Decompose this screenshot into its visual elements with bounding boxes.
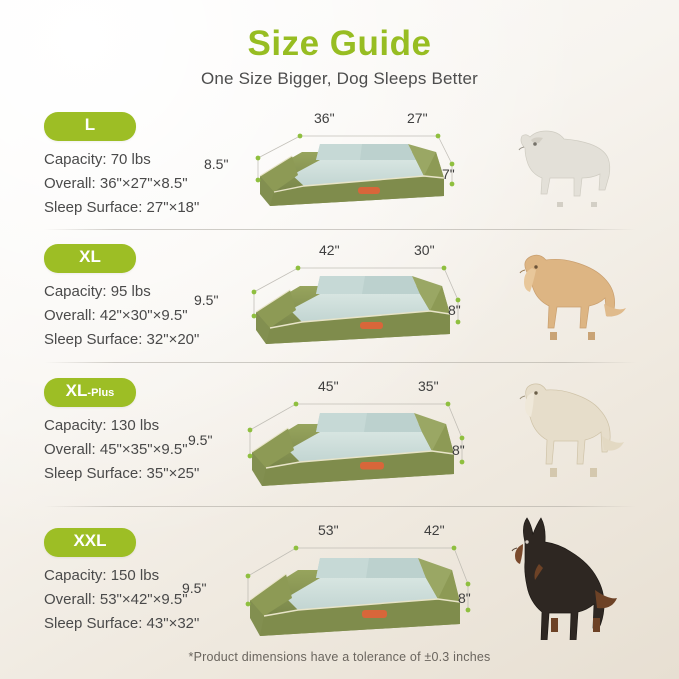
logo-tag (360, 462, 384, 470)
bed-drawing (226, 536, 478, 648)
bed-drawing (230, 390, 472, 498)
dim-depth: 27" (407, 110, 428, 126)
dim-height-left: 8.5" (204, 156, 228, 172)
logo-tag (362, 610, 387, 618)
row-separator (44, 506, 636, 507)
dim-depth: 42" (424, 522, 445, 538)
dim-depth: 30" (414, 242, 435, 258)
size-badge-label: XXL (73, 531, 106, 550)
dim-height-right: 7" (442, 166, 455, 182)
dim-width: 36" (314, 110, 335, 126)
size-badge-suffix: -Plus (87, 387, 114, 399)
dim-height-right: 8" (448, 302, 461, 318)
dog-image (492, 246, 642, 346)
bed-illustration: 45" 35" 9.5" 8" (230, 390, 472, 498)
dim-height-right: 8" (452, 442, 465, 458)
footer-note: *Product dimensions have a tolerance of … (0, 650, 679, 664)
page-subtitle: One Size Bigger, Dog Sleeps Better (0, 66, 679, 92)
row-separator (44, 229, 636, 230)
size-badge-label: L (85, 115, 95, 134)
page-title: Size Guide (0, 22, 679, 66)
size-badge: XXL (44, 528, 136, 557)
dim-height-left: 9.5" (194, 292, 218, 308)
size-badge-label: XL (66, 381, 88, 400)
dim-width: 45" (318, 378, 339, 394)
dim-width: 53" (318, 522, 339, 538)
bulldog-icon (495, 118, 635, 210)
overall-line: Overall: 45"×35"×9.5" (44, 438, 259, 462)
dim-height-right: 8" (458, 590, 471, 606)
dim-height-left: 9.5" (188, 432, 212, 448)
size-badge: XL-Plus (44, 378, 136, 407)
dim-height-left: 9.5" (182, 580, 206, 596)
spec-lines: Capacity: 95 lbs Overall: 42"×30"×9.5" S… (44, 280, 259, 352)
size-guide-infographic: Size Guide One Size Bigger, Dog Sleeps B… (0, 0, 679, 679)
dog-image (495, 118, 635, 210)
dog-image (495, 514, 645, 640)
bed-drawing (240, 118, 460, 218)
spec-block: XL Capacity: 95 lbs Overall: 42"×30"×9.5… (44, 244, 259, 352)
overall-line: Overall: 42"×30"×9.5" (44, 304, 259, 328)
bed-illustration: 53" 42" 9.5" 8" (226, 536, 478, 648)
dim-width: 42" (319, 242, 340, 258)
sleep-surface-line: Sleep Surface: 32"×20" (44, 328, 259, 352)
labrador-icon (492, 376, 644, 484)
bed-illustration: 42" 30" 9.5" 8" (234, 252, 468, 356)
dog-image (492, 376, 644, 484)
dim-depth: 35" (418, 378, 439, 394)
overall-line: Overall: 36"×27"×8.5" (44, 172, 259, 196)
size-badge: XL (44, 244, 136, 273)
logo-tag (358, 187, 380, 194)
doberman-icon (495, 514, 645, 640)
row-separator (44, 362, 636, 363)
size-badge-label: XL (79, 247, 101, 266)
header: Size Guide One Size Bigger, Dog Sleeps B… (0, 22, 679, 92)
sleep-surface-line: Sleep Surface: 35"×25" (44, 462, 259, 486)
golden-retriever-icon (492, 246, 642, 346)
spec-lines: Capacity: 130 lbs Overall: 45"×35"×9.5" … (44, 414, 259, 486)
logo-tag (360, 322, 383, 329)
capacity-line: Capacity: 130 lbs (44, 414, 259, 438)
bed-illustration: 36" 27" 8.5" 7" (240, 118, 460, 218)
size-badge: L (44, 112, 136, 141)
bed-drawing (234, 252, 468, 356)
capacity-line: Capacity: 95 lbs (44, 280, 259, 304)
spec-block: XL-Plus Capacity: 130 lbs Overall: 45"×3… (44, 378, 259, 486)
sleep-surface-line: Sleep Surface: 27"×18" (44, 196, 259, 220)
